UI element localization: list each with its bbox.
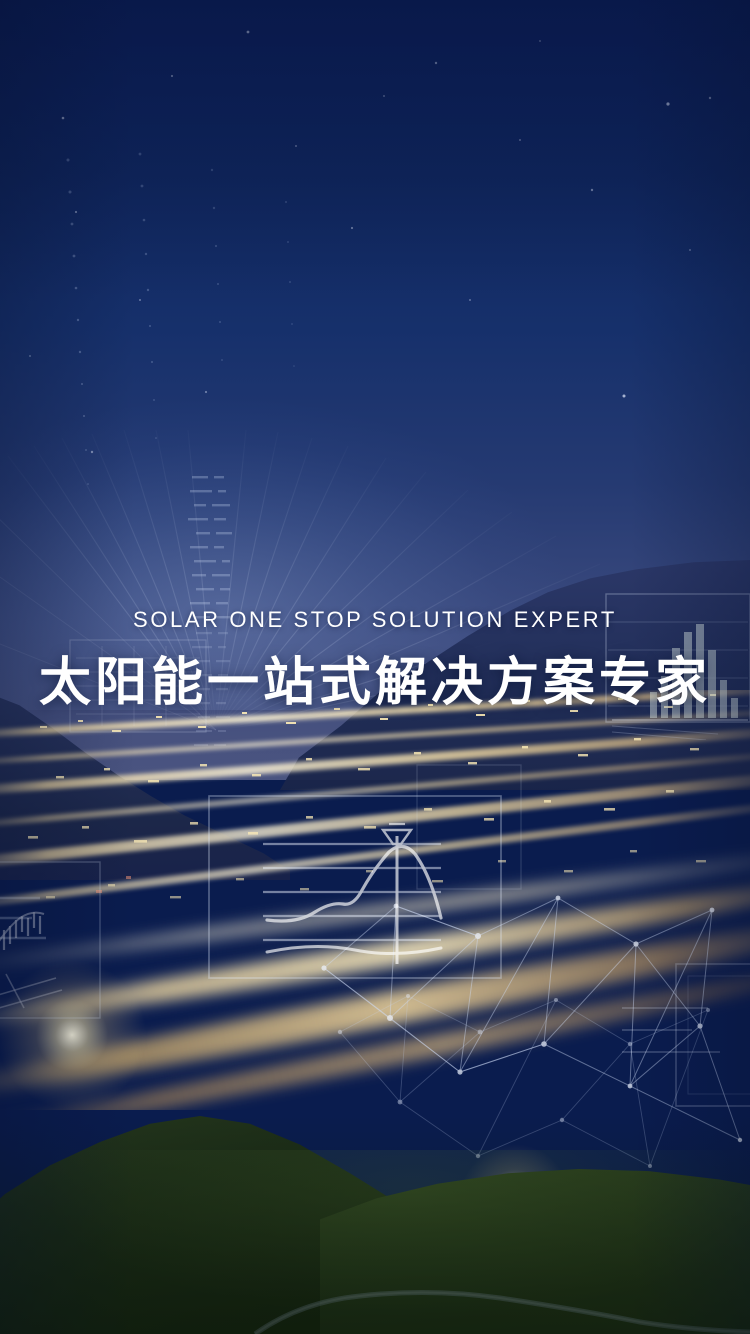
banner-headline: 太阳能一站式解决方案专家 [0,652,750,714]
banner-eyebrow: SOLAR ONE STOP SOLUTION EXPERT [0,604,750,636]
banner-stage: SOLAR ONE STOP SOLUTION EXPERT 太阳能一站式解决方… [0,0,750,1334]
winding-road [0,1230,750,1334]
banner-text-block: SOLAR ONE STOP SOLUTION EXPERT 太阳能一站式解决方… [0,604,750,714]
